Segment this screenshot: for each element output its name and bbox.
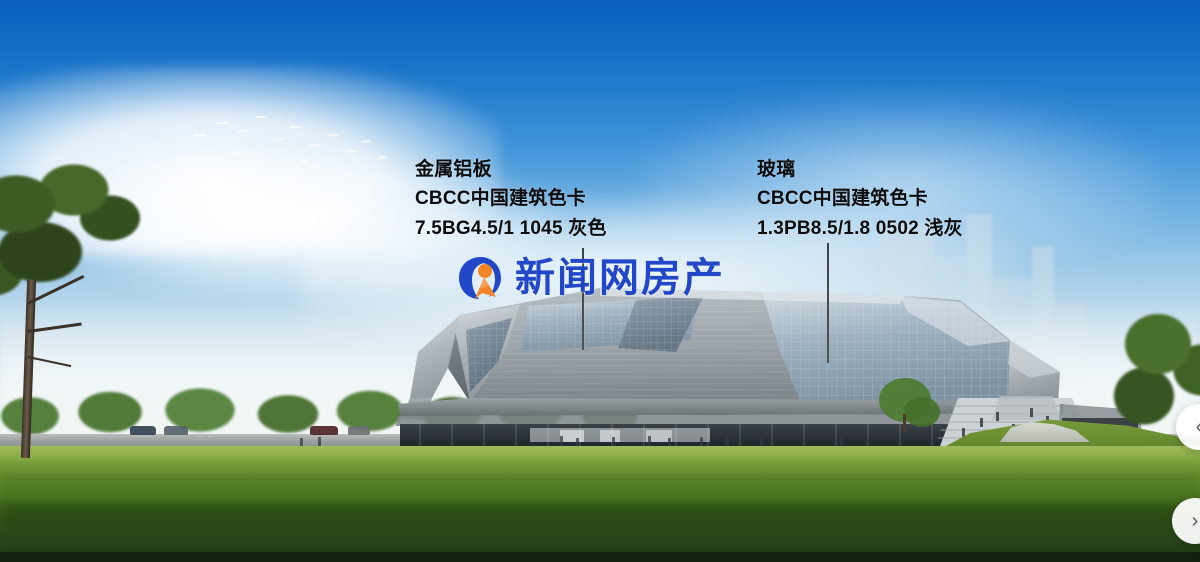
chevron-right-icon: › xyxy=(1192,511,1199,531)
lawn-shadow-near xyxy=(0,474,1200,500)
parked-cars xyxy=(120,424,880,438)
foreground-tree-left xyxy=(0,160,160,460)
annotation-metal-standard: CBCC中国建筑色卡 xyxy=(415,184,607,214)
annotation-glass: 玻璃 CBCC中国建筑色卡 1.3PB8.5/1.8 0502 浅灰 xyxy=(757,156,963,244)
screenshot-root: 金属铝板 CBCC中国建筑色卡 7.5BG4.5/1 1045 灰色 玻璃 CB… xyxy=(0,0,1200,562)
watermark-text: 新闻网房产 xyxy=(515,254,725,302)
qingdao-news-logo-icon xyxy=(455,252,507,304)
annotation-metal-spec: 7.5BG4.5/1 1045 灰色 xyxy=(415,214,607,244)
lawn-highlight xyxy=(0,446,1200,464)
annotation-glass-spec: 1.3PB8.5/1.8 0502 浅灰 xyxy=(757,214,963,244)
lawn-shadow-far xyxy=(0,504,1200,538)
leader-line-glass xyxy=(827,243,829,363)
annotation-glass-standard: CBCC中国建筑色卡 xyxy=(757,184,963,214)
annotation-glass-title: 玻璃 xyxy=(757,156,963,184)
birds-flock xyxy=(190,106,400,172)
chevron-left-icon: ‹ xyxy=(1196,417,1200,437)
site-watermark: 新闻网房产 xyxy=(455,252,725,304)
annotation-metal-panel: 金属铝板 CBCC中国建筑色卡 7.5BG4.5/1 1045 灰色 xyxy=(415,156,607,244)
annotation-metal-title: 金属铝板 xyxy=(415,156,607,184)
bottom-edge-strip xyxy=(0,552,1200,562)
